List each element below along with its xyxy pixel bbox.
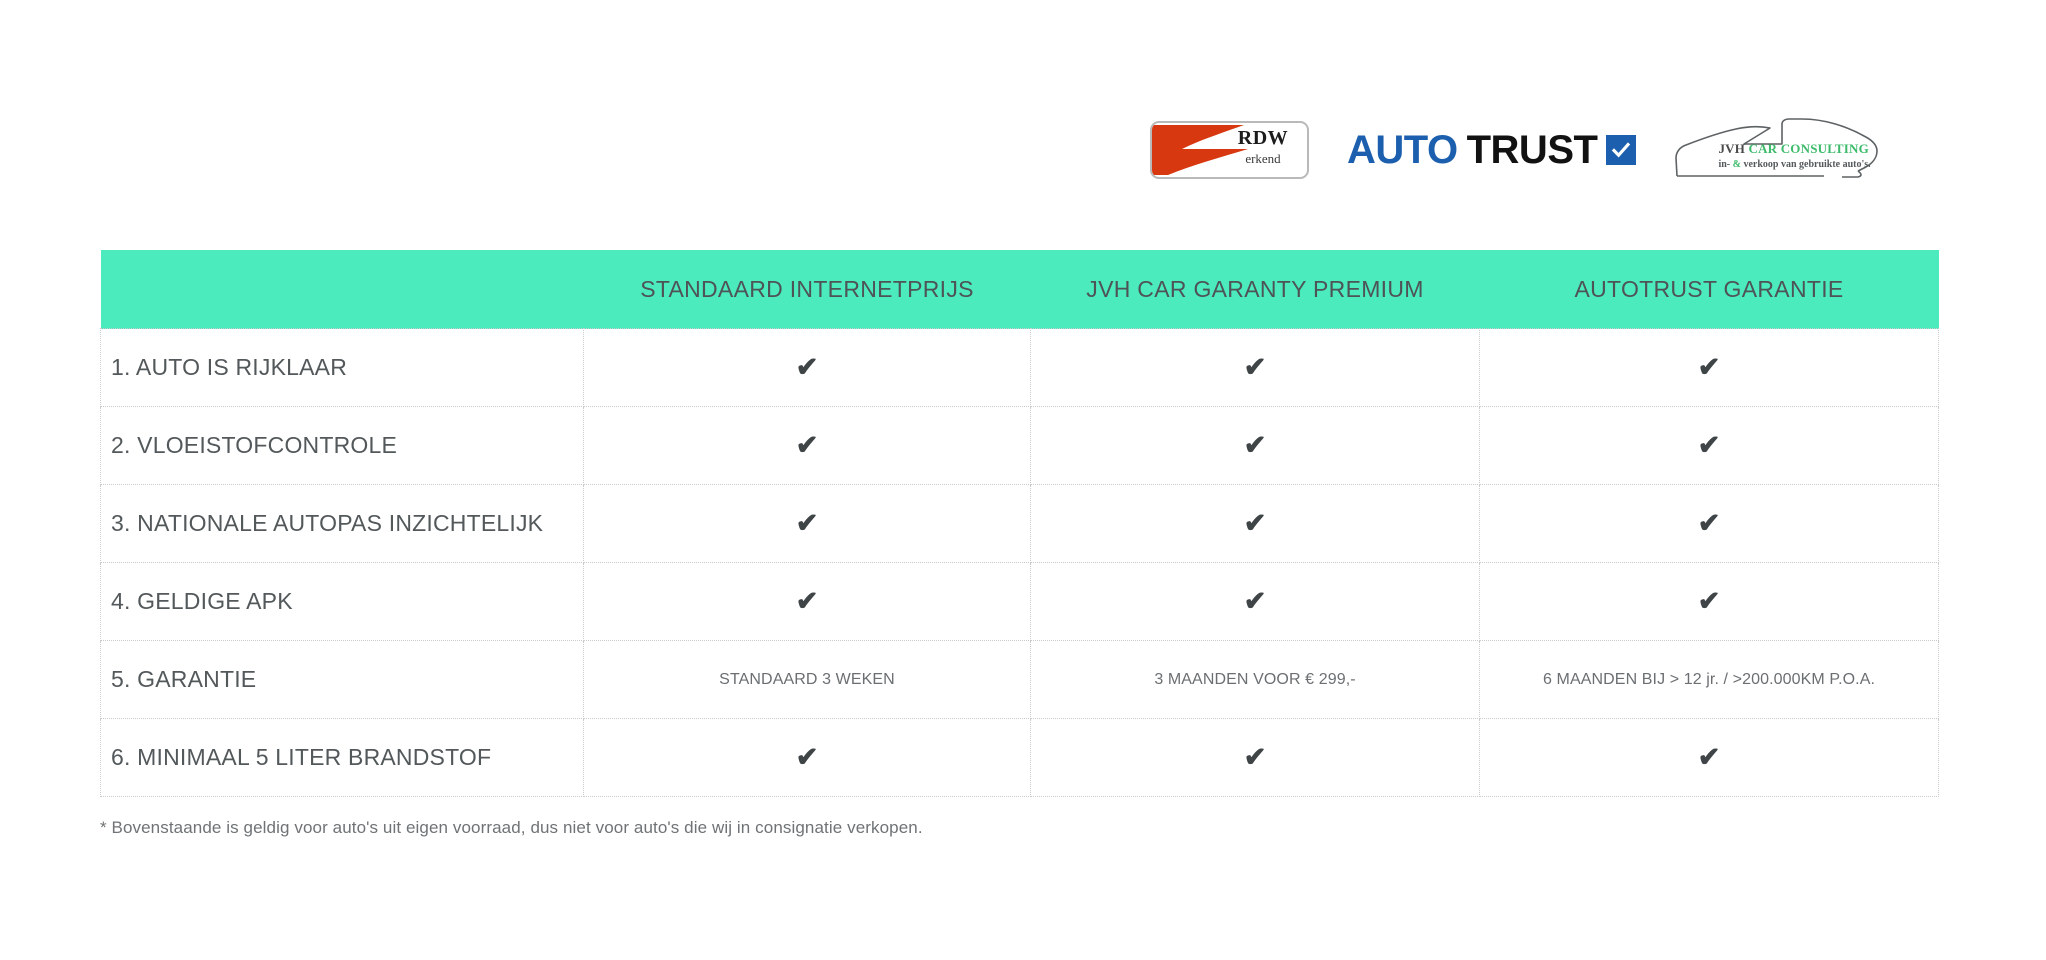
rdw-title: RDW: [1227, 127, 1299, 149]
cell-standaard: ✔: [584, 485, 1031, 563]
autotrust-word-trust: TRUST: [1467, 130, 1598, 170]
cell-premium: ✔: [1031, 563, 1480, 641]
table-row: 4. GELDIGE APK ✔ ✔ ✔: [101, 563, 1939, 641]
table-body: 1. AUTO IS RIJKLAAR ✔ ✔ ✔ 2. VLOEISTOFCO…: [101, 329, 1939, 797]
check-icon: ✔: [1698, 588, 1721, 615]
check-icon: ✔: [1244, 744, 1267, 771]
table-row: 1. AUTO IS RIJKLAAR ✔ ✔ ✔: [101, 329, 1939, 407]
cell-standaard: ✔: [584, 563, 1031, 641]
cell-autotrust: ✔: [1480, 407, 1939, 485]
column-header-feature: [101, 250, 584, 329]
jvh-tagline: in- & verkoop van gebruikte auto's.: [1718, 159, 1870, 170]
cell-standaard: ✔: [584, 329, 1031, 407]
jvh-tagline-amp: &: [1733, 159, 1741, 170]
check-icon: ✔: [1244, 588, 1267, 615]
check-icon: [1606, 135, 1636, 165]
cell-standaard: ✔: [584, 407, 1031, 485]
row-label: 3. NATIONALE AUTOPAS INZICHTELIJK: [101, 485, 584, 563]
check-icon: ✔: [1244, 432, 1267, 459]
warranty-text: STANDAARD 3 WEKEN: [719, 671, 895, 688]
rdw-subtitle: erkend: [1227, 151, 1299, 167]
row-label: 4. GELDIGE APK: [101, 563, 584, 641]
cell-premium: ✔: [1031, 719, 1480, 797]
cell-standaard: ✔: [584, 719, 1031, 797]
row-label: 1. AUTO IS RIJKLAAR: [101, 329, 584, 407]
table-row: 3. NATIONALE AUTOPAS INZICHTELIJK ✔ ✔ ✔: [101, 485, 1939, 563]
cell-autotrust: ✔: [1480, 329, 1939, 407]
cell-standaard: STANDAARD 3 WEKEN: [584, 641, 1031, 719]
table-row: 6. MINIMAAL 5 LITER BRANDSTOF ✔ ✔ ✔: [101, 719, 1939, 797]
table-row: 5. GARANTIE STANDAARD 3 WEKEN 3 MAANDEN …: [101, 641, 1939, 719]
column-header-jvh-car-garanty-premium: JVH CAR GARANTY PREMIUM: [1031, 250, 1480, 329]
footnote: * Bovenstaande is geldig voor auto's uit…: [100, 818, 923, 838]
autotrust-word-auto: AUTO: [1347, 130, 1458, 170]
row-label: 6. MINIMAAL 5 LITER BRANDSTOF: [101, 719, 584, 797]
check-icon: ✔: [796, 354, 819, 381]
check-icon: ✔: [796, 744, 819, 771]
jvh-tagline-post: verkoop van gebruikte auto's.: [1741, 159, 1871, 170]
cell-autotrust: ✔: [1480, 719, 1939, 797]
autotrust-logo: AUTOTRUST: [1347, 130, 1636, 170]
warranty-text: 6 MAANDEN BIJ > 12 jr. / >200.000KM P.O.…: [1543, 671, 1875, 688]
jvh-title-green: CAR CONSULTING: [1749, 141, 1869, 156]
check-icon: ✔: [1244, 354, 1267, 381]
table-header-row: STANDAARD INTERNETPRIJS JVH CAR GARANTY …: [101, 250, 1939, 329]
check-icon: ✔: [796, 432, 819, 459]
check-icon: ✔: [1244, 510, 1267, 537]
rdw-logo: RDW erkend: [1150, 121, 1309, 179]
column-header-standaard-internetprijs: STANDAARD INTERNETPRIJS: [584, 250, 1031, 329]
check-icon: ✔: [1698, 510, 1721, 537]
warranty-text: 3 MAANDEN VOOR € 299,-: [1154, 671, 1355, 688]
check-icon: ✔: [796, 588, 819, 615]
cell-autotrust: 6 MAANDEN BIJ > 12 jr. / >200.000KM P.O.…: [1480, 641, 1939, 719]
logo-bar: RDW erkend AUTOTRUST JVH CAR CONSULTING …: [1150, 110, 1940, 190]
cell-autotrust: ✔: [1480, 563, 1939, 641]
cell-premium: 3 MAANDEN VOOR € 299,-: [1031, 641, 1480, 719]
warranty-comparison-table: STANDAARD INTERNETPRIJS JVH CAR GARANTY …: [100, 250, 1939, 797]
jvh-title: JVH CAR CONSULTING: [1718, 141, 1869, 157]
row-label: 5. GARANTIE: [101, 641, 584, 719]
check-icon: ✔: [1698, 354, 1721, 381]
check-icon: ✔: [1698, 744, 1721, 771]
check-icon: ✔: [1698, 432, 1721, 459]
check-icon: ✔: [796, 510, 819, 537]
cell-premium: ✔: [1031, 329, 1480, 407]
jvh-tagline-pre: in-: [1718, 159, 1732, 170]
cell-premium: ✔: [1031, 407, 1480, 485]
row-label: 2. VLOEISTOFCONTROLE: [101, 407, 584, 485]
cell-premium: ✔: [1031, 485, 1480, 563]
table-row: 2. VLOEISTOFCONTROLE ✔ ✔ ✔: [101, 407, 1939, 485]
table-header: STANDAARD INTERNETPRIJS JVH CAR GARANTY …: [101, 250, 1939, 329]
jvh-car-consulting-logo: JVH CAR CONSULTING in- & verkoop van geb…: [1674, 114, 1884, 186]
jvh-title-dark: JVH: [1718, 141, 1748, 156]
cell-autotrust: ✔: [1480, 485, 1939, 563]
column-header-autotrust-garantie: AUTOTRUST GARANTIE: [1480, 250, 1939, 329]
